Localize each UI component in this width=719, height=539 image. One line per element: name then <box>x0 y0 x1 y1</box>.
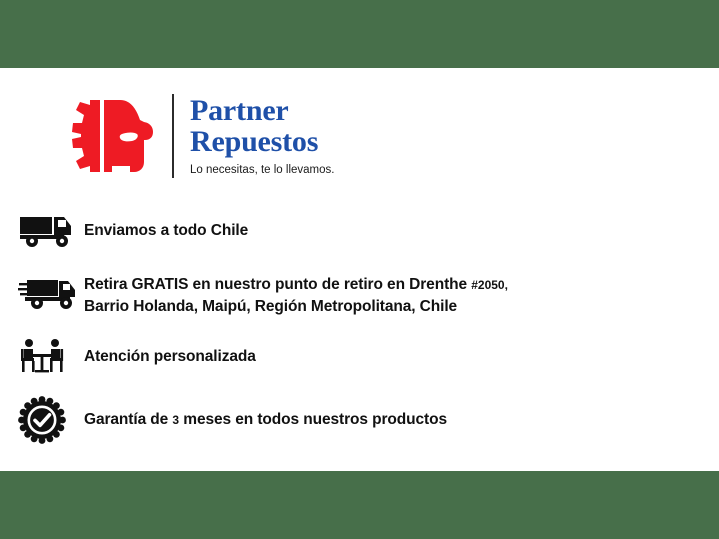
guarantee-seal-check-icon <box>18 397 84 443</box>
feature-list: Enviamos a todo Chile <box>0 208 719 449</box>
feature-text-guarantee: Garantía de 3 meses en todos nuestros pr… <box>84 397 719 431</box>
pickup-line-1-prefix: Retira GRATIS en nuestro punto de retiro… <box>84 276 471 293</box>
feature-text-pickup: Retira GRATIS en nuestro punto de retiro… <box>84 271 719 318</box>
bottom-green-band <box>0 471 719 539</box>
content-sheet: Partner Repuestos Lo necesitas, te lo ll… <box>0 68 719 471</box>
feature-row-guarantee: Garantía de 3 meses en todos nuestros pr… <box>0 397 719 449</box>
feature-text-shipping: Enviamos a todo Chile <box>84 208 719 242</box>
top-green-band <box>0 0 719 68</box>
pickup-line-2: Barrio Holanda, Maipú, Región Metropolit… <box>84 298 457 315</box>
pickup-street-number: #2050, <box>471 278 508 292</box>
delivery-truck-icon <box>18 208 84 254</box>
moving-truck-icon <box>18 271 84 317</box>
guarantee-suffix: meses en todos nuestros productos <box>179 411 447 428</box>
feature-text-attention: Atención personalizada <box>84 334 719 368</box>
brand-divider <box>172 94 174 178</box>
guarantee-prefix: Garantía de <box>84 411 172 428</box>
brand-tagline: Lo necesitas, te lo llevamos. <box>190 164 334 177</box>
brand-text-block: Partner Repuestos Lo necesitas, te lo ll… <box>190 95 334 177</box>
feature-row-pickup: Retira GRATIS en nuestro punto de retiro… <box>0 271 719 323</box>
feature-row-attention: Atención personalizada <box>0 334 719 386</box>
brand-lockup: Partner Repuestos Lo necesitas, te lo ll… <box>52 94 334 178</box>
gear-car-logo-icon <box>52 96 158 176</box>
brand-name-line-2: Repuestos <box>190 126 334 157</box>
feature-row-shipping: Enviamos a todo Chile <box>0 208 719 260</box>
promo-banner: Partner Repuestos Lo necesitas, te lo ll… <box>0 0 719 539</box>
brand-name-line-1: Partner <box>190 95 334 126</box>
people-at-table-icon <box>18 334 84 380</box>
